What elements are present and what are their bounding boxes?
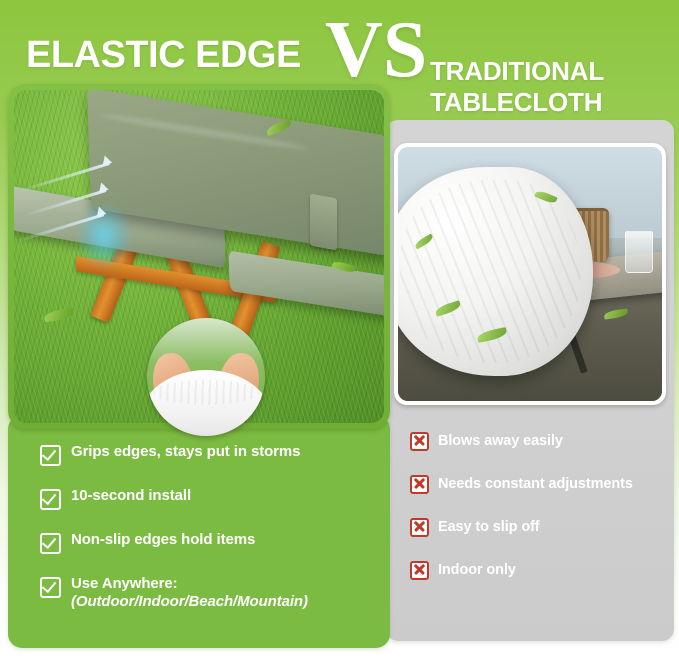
feature-label: 10-second install [71,487,191,505]
comparison-infographic: ELASTIC EDGE VS TRADITIONAL TABLECLOTH [0,0,679,665]
drawback-label: Needs constant adjustments [438,476,633,493]
check-box-icon [40,489,61,510]
cross-box-icon [410,432,429,451]
list-item: Blows away easily [410,432,672,451]
feature-label: Grips edges, stays put in storms [71,443,300,461]
corner-strap [310,194,337,251]
feature-list: Grips edges, stays put in storms 10-seco… [40,443,380,610]
list-item: Use Anywhere: (Outdoor/Indoor/Beach/Moun… [40,575,380,610]
list-item: Indoor only [410,561,672,580]
list-item: 10-second install [40,487,380,510]
heading-vs: VS [325,10,427,90]
check-box-icon [40,445,61,466]
heading-traditional-tablecloth: TRADITIONAL TABLECLOTH [430,56,670,117]
traditional-photo [398,147,662,401]
drawback-label: Easy to slip off [438,519,540,536]
heading-traditional-line2: TABLECLOTH [430,87,670,118]
feature-label: Use Anywhere: (Outdoor/Indoor/Beach/Moun… [71,575,308,610]
blowing-tablecloth [398,167,593,375]
list-item: Easy to slip off [410,518,672,537]
feature-label: Non-slip edges hold items [71,531,255,549]
check-box-icon [40,577,61,598]
drinking-glass [625,231,653,274]
cross-box-icon [410,518,429,537]
drawback-label: Indoor only [438,562,516,579]
drawback-list: Blows away easily Needs constant adjustm… [410,432,672,580]
heading-elastic-edge: ELASTIC EDGE [26,36,301,74]
heading-traditional-line1: TRADITIONAL [430,56,670,87]
feature-label-sub: (Outdoor/Indoor/Beach/Mountain) [71,593,308,611]
feature-label-main: Use Anywhere: [71,575,178,592]
elastic-edge-closeup-inset [147,318,265,436]
check-box-icon [40,533,61,554]
list-item: Non-slip edges hold items [40,531,380,554]
list-item: Grips edges, stays put in storms [40,443,380,466]
cross-box-icon [410,475,429,494]
list-item: Needs constant adjustments [410,475,672,494]
drawback-label: Blows away easily [438,433,563,450]
traditional-photo-card [394,143,666,405]
cross-box-icon [410,561,429,580]
